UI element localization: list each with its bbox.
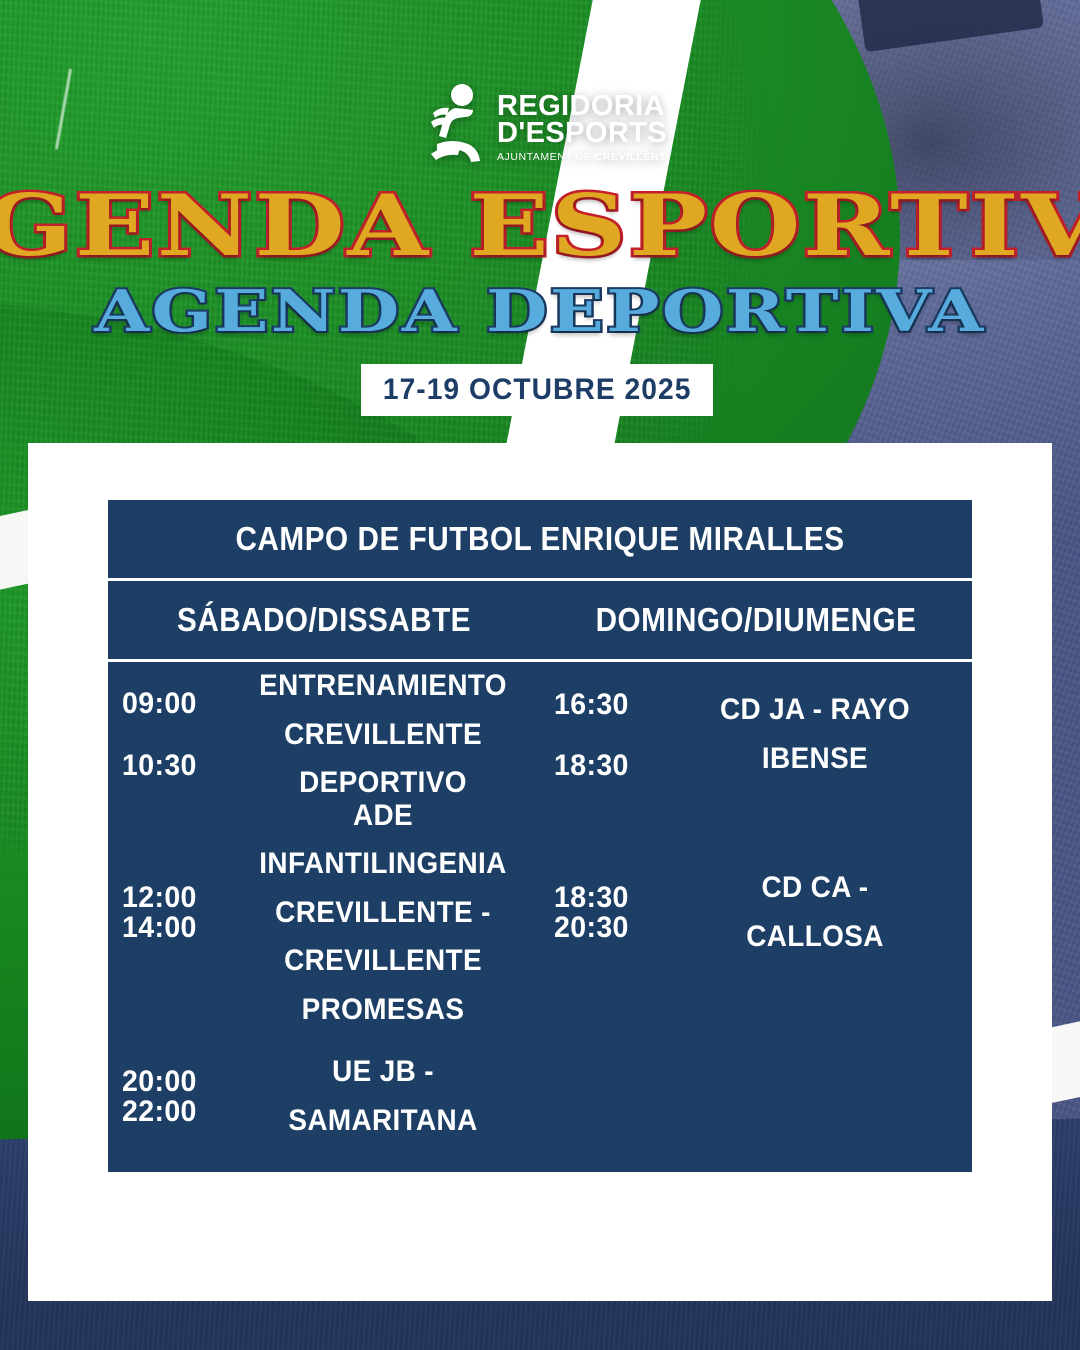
- page-title-spanish: AGENDA DEPORTIVA: [0, 283, 1080, 340]
- time-cell: 12:00 14:00: [108, 883, 226, 943]
- regidoria-desports-logo: REGIDORIA D'ESPORTS AJUNTAMENT DE CREVIL…: [425, 78, 670, 178]
- date-range-text: 17-19 OCTUBRE 2025: [383, 373, 692, 407]
- time-value: 18:30: [554, 735, 653, 796]
- time-value: 14:00: [122, 913, 221, 943]
- schedule-block: 09:00 10:30 ENTRENAMIENTO CREVILLENTE DE…: [108, 662, 540, 808]
- time-cell: 18:30 20:30: [540, 883, 658, 943]
- event-cell: CD JA - RAYO IBENSE: [669, 686, 961, 783]
- running-athlete-icon: [425, 82, 487, 174]
- schedule-block-empty: [540, 1018, 972, 1175]
- event-line: CALLOSA: [676, 913, 953, 962]
- time-value: 12:00: [122, 883, 221, 913]
- event-line: ENTRENAMIENTO: [244, 662, 521, 711]
- schedule-block: 18:30 20:30 CD CA - CALLOSA: [540, 808, 972, 1018]
- logo-town-name: CREVILLENT: [595, 151, 666, 163]
- schedule-block: 16:30 18:30 CD JA - RAYO IBENSE: [540, 662, 972, 808]
- logo-line-regidoria: REGIDORIA: [497, 93, 667, 120]
- event-cell: ENTRENAMIENTO CREVILLENTE DEPORTIVO: [237, 662, 529, 808]
- logo-line-desports: D'ESPORTS: [497, 120, 667, 147]
- time-value: 18:30: [554, 883, 653, 913]
- day-header-saturday: SÁBADO/DISSABTE: [130, 601, 519, 639]
- schedule-body: 09:00 10:30 ENTRENAMIENTO CREVILLENTE DE…: [108, 662, 972, 1175]
- event-cell: UE JB - SAMARITANA: [237, 1048, 529, 1145]
- event-line: IBENSE: [676, 735, 953, 784]
- date-range-banner: 17-19 OCTUBRE 2025: [361, 364, 713, 416]
- event-cell: ADE INFANTILINGENIA CREVILLENTE - CREVIL…: [237, 792, 529, 1035]
- time-cell: 09:00 10:30: [108, 673, 226, 798]
- poster-root: REGIDORIA D'ESPORTS AJUNTAMENT DE CREVIL…: [0, 0, 1080, 1350]
- time-value: 22:00: [122, 1097, 221, 1127]
- schedule-block: 12:00 14:00 ADE INFANTILINGENIA CREVILLE…: [108, 808, 540, 1018]
- time-cell: 20:00 22:00: [108, 1067, 226, 1127]
- logo-line-ajuntament: AJUNTAMENT DE CREVILLENT: [497, 151, 667, 163]
- time-value: 16:30: [554, 674, 653, 735]
- event-line: UE JB - SAMARITANA: [244, 1048, 521, 1145]
- schedule-block: 20:00 22:00 UE JB - SAMARITANA: [108, 1018, 540, 1175]
- logo-ajuntament-prefix: AJUNTAMENT DE: [497, 151, 595, 163]
- event-line: CREVILLENTE PROMESAS: [244, 937, 521, 1034]
- day-header-row: SÁBADO/DISSABTE DOMINGO/DIUMENGE: [108, 581, 972, 659]
- event-line: ADE INFANTILINGENIA: [244, 792, 521, 889]
- event-line: CD CA -: [676, 864, 953, 913]
- title-block: AGENDA ESPORTIVA AGENDA DEPORTIVA: [0, 185, 1080, 340]
- column-sunday: 16:30 18:30 CD JA - RAYO IBENSE 18:30 20…: [540, 662, 972, 1175]
- event-line: CD JA - RAYO: [676, 686, 953, 735]
- time-cell: 16:30 18:30: [540, 674, 658, 796]
- time-value: 10:30: [122, 735, 221, 797]
- page-title-valencian: AGENDA ESPORTIVA: [0, 185, 1080, 267]
- time-value: 20:30: [554, 913, 653, 943]
- time-value: 09:00: [122, 673, 221, 735]
- venue-header: CAMPO DE FUTBOL ENRIQUE MIRALLES: [151, 500, 929, 578]
- schedule-table: CAMPO DE FUTBOL ENRIQUE MIRALLES SÁBADO/…: [108, 500, 972, 1172]
- column-saturday: 09:00 10:30 ENTRENAMIENTO CREVILLENTE DE…: [108, 662, 540, 1175]
- day-header-sunday: DOMINGO/DIUMENGE: [562, 601, 951, 639]
- logo-wordmark: REGIDORIA D'ESPORTS AJUNTAMENT DE CREVIL…: [497, 93, 667, 164]
- event-line: CREVILLENTE -: [244, 889, 521, 938]
- time-value: 20:00: [122, 1067, 221, 1097]
- event-cell: CD CA - CALLOSA: [669, 864, 961, 961]
